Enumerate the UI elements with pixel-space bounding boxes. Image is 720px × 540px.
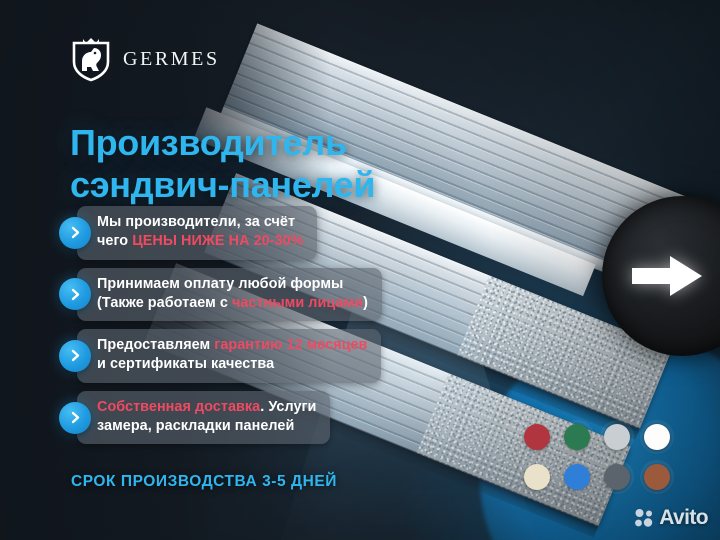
avito-wordmark: Avito [659,506,708,530]
feature-text-4: Собственная доставка. Услуги замера, рас… [77,391,330,445]
list-item: Предоставляем гарантию 12 месяцев и серт… [59,329,429,383]
feature-3-line-2: и сертификаты качества [97,356,274,372]
list-item: Собственная доставка. Услуги замера, рас… [59,391,429,445]
chevron-right-icon [59,340,91,372]
feature-1-line-1: Мы производители, за счёт [97,214,295,230]
feature-2-line-2-highlight: частными лицами [232,295,363,311]
list-item: Мы производители, за счёт чего ЦЕНЫ НИЖЕ… [59,206,429,260]
swatch-cream[interactable] [524,464,550,490]
swatch-cell[interactable] [558,458,596,496]
avito-watermark: Avito [634,506,708,530]
feature-2-line-2-tail: ) [363,295,368,311]
chevron-right-icon [59,217,91,249]
avito-dots-icon [634,508,654,528]
swatch-light-gray[interactable] [604,424,630,450]
headline-line-1: Производитель [70,122,347,163]
swatch-cell[interactable] [638,418,676,456]
feature-list: Мы производители, за счёт чего ЦЕНЫ НИЖЕ… [59,206,429,452]
feature-2-line-1: Принимаем оплату любой формы [97,276,343,292]
feature-1-line-2-highlight: ЦЕНЫ НИЖЕ НА 20-30% [132,233,303,249]
color-swatch-grid [518,418,676,496]
headline-line-2: сэндвич-панелей [70,164,470,206]
chevron-right-icon [59,402,91,434]
feature-3-line-1-highlight: гарантию 12 месяцев [214,337,367,353]
feature-text-2: Принимаем оплату любой формы (Также рабо… [77,268,382,322]
swatch-cell[interactable] [518,458,556,496]
feature-text-3: Предоставляем гарантию 12 месяцев и серт… [77,329,381,383]
shield-crowned-lion-icon [70,36,112,82]
swatch-red[interactable] [524,424,550,450]
feature-1-line-2-plain: чего [97,233,132,249]
feature-4-line-1-highlight: Собственная доставка [97,399,260,415]
list-item: Принимаем оплату любой формы (Также рабо… [59,268,429,322]
swatch-green[interactable] [564,424,590,450]
arrow-right-icon [632,253,702,299]
advertisement-banner: GERMES Производитель сэндвич-панелей Мы … [0,0,720,540]
swatch-cell[interactable] [638,458,676,496]
feature-4-line-2: замера, раскладки панелей [97,418,294,434]
swatch-cell[interactable] [518,418,556,456]
swatch-white[interactable] [644,424,670,450]
swatch-brown[interactable] [644,464,670,490]
production-term-note: СРОК ПРОИЗВОДСТВА 3-5 ДНЕЙ [71,473,337,491]
page-title: Производитель сэндвич-панелей [70,122,470,206]
feature-3-line-1-plain: Предоставляем [97,337,214,353]
chevron-right-icon [59,278,91,310]
feature-2-line-2-plain: (Также работаем с [97,295,232,311]
feature-4-line-1-tail: . Услуги [260,399,316,415]
swatch-cell[interactable] [558,418,596,456]
swatch-blue[interactable] [564,464,590,490]
feature-text-1: Мы производители, за счёт чего ЦЕНЫ НИЖЕ… [77,206,317,260]
brand-logo: GERMES [70,36,220,82]
swatch-cell[interactable] [598,458,636,496]
brand-name: GERMES [123,48,220,71]
swatch-slate-gray[interactable] [604,464,630,490]
swatch-cell[interactable] [598,418,636,456]
